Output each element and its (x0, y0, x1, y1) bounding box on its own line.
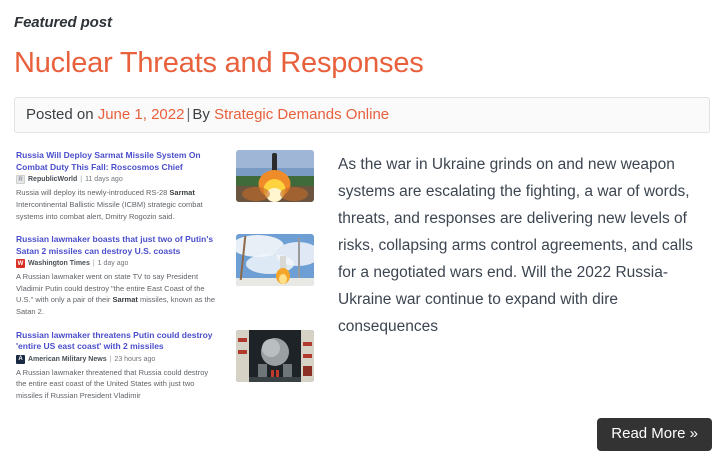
list-item[interactable]: Russian lawmaker threatens Putin could d… (16, 330, 314, 402)
related-news-list: Russia Will Deploy Sarmat Missile System… (14, 150, 314, 413)
post-author-link[interactable]: Strategic Demands Online (214, 106, 389, 123)
news-headline-link[interactable]: Russian lawmaker boasts that just two of… (16, 234, 216, 257)
news-snippet-before: Russia will deploy its newly-introduced … (16, 188, 169, 197)
republicworld-favicon: R (16, 175, 25, 184)
news-snippet-before: A Russian lawmaker threatened that Russi… (16, 368, 208, 400)
news-snippet-bold: Sarmat (169, 188, 194, 197)
news-timestamp: 23 hours ago (114, 356, 155, 363)
news-meta-separator: | (77, 176, 85, 183)
by-text: By (192, 106, 214, 123)
news-snippet: Russia will deploy its newly-introduced … (16, 187, 216, 222)
news-timestamp: 11 days ago (85, 176, 123, 183)
read-more-button[interactable]: Read More » (597, 418, 712, 452)
post-date-link[interactable]: June 1, 2022 (98, 106, 185, 123)
missile-launch-orange-flame-thumbnail[interactable] (236, 150, 314, 202)
featured-post-label: Featured post (14, 14, 710, 31)
news-item-text: Russia Will Deploy Sarmat Missile System… (16, 150, 216, 222)
news-snippet-after: Intercontinental Ballistic Missile (ICBM… (16, 200, 203, 221)
news-source-row: W Washington Times | 1 day ago (16, 259, 216, 268)
news-headline-link[interactable]: Russian lawmaker threatens Putin could d… (16, 330, 216, 353)
news-source-name: American Military News (28, 356, 107, 363)
favicon-letter: A (16, 355, 25, 364)
news-source-row: A American Military News | 23 hours ago (16, 355, 216, 364)
warhead-sphere-dark-thumbnail[interactable] (236, 330, 314, 382)
news-item-text: Russian lawmaker threatens Putin could d… (16, 330, 216, 402)
news-snippet: A Russian lawmaker went on state TV to s… (16, 271, 216, 318)
news-item-text: Russian lawmaker boasts that just two of… (16, 234, 216, 317)
news-snippet: A Russian lawmaker threatened that Russi… (16, 367, 216, 402)
rocket-launch-blue-sky-thumbnail[interactable] (236, 234, 314, 286)
news-meta-separator: | (107, 356, 115, 363)
american-military-news-favicon: A (16, 355, 25, 364)
favicon-letter: R (17, 176, 24, 183)
article-column: As the war in Ukraine grinds on and new … (314, 150, 710, 413)
news-meta-separator: | (90, 260, 98, 267)
posted-on-text: Posted on (26, 106, 98, 123)
list-item[interactable]: Russian lawmaker boasts that just two of… (16, 234, 314, 317)
news-headline-link[interactable]: Russia Will Deploy Sarmat Missile System… (16, 150, 216, 173)
article-body: As the war in Ukraine grinds on and new … (338, 152, 710, 341)
news-timestamp: 1 day ago (98, 260, 129, 267)
news-source-name: Washington Times (28, 260, 90, 267)
news-snippet-bold: Sarmat (112, 295, 137, 304)
news-source-row: R RepublicWorld | 11 days ago (16, 175, 216, 184)
post-content: Russia Will Deploy Sarmat Missile System… (14, 150, 710, 413)
washington-times-favicon: W (16, 259, 25, 268)
news-source-name: RepublicWorld (28, 176, 77, 183)
post-title[interactable]: Nuclear Threats and Responses (14, 47, 710, 79)
favicon-letter: W (16, 259, 25, 268)
post-meta-bar: Posted on June 1, 2022|By Strategic Dema… (14, 97, 710, 133)
featured-post-page: Featured post Nuclear Threats and Respon… (0, 14, 724, 462)
list-item[interactable]: Russia Will Deploy Sarmat Missile System… (16, 150, 314, 222)
